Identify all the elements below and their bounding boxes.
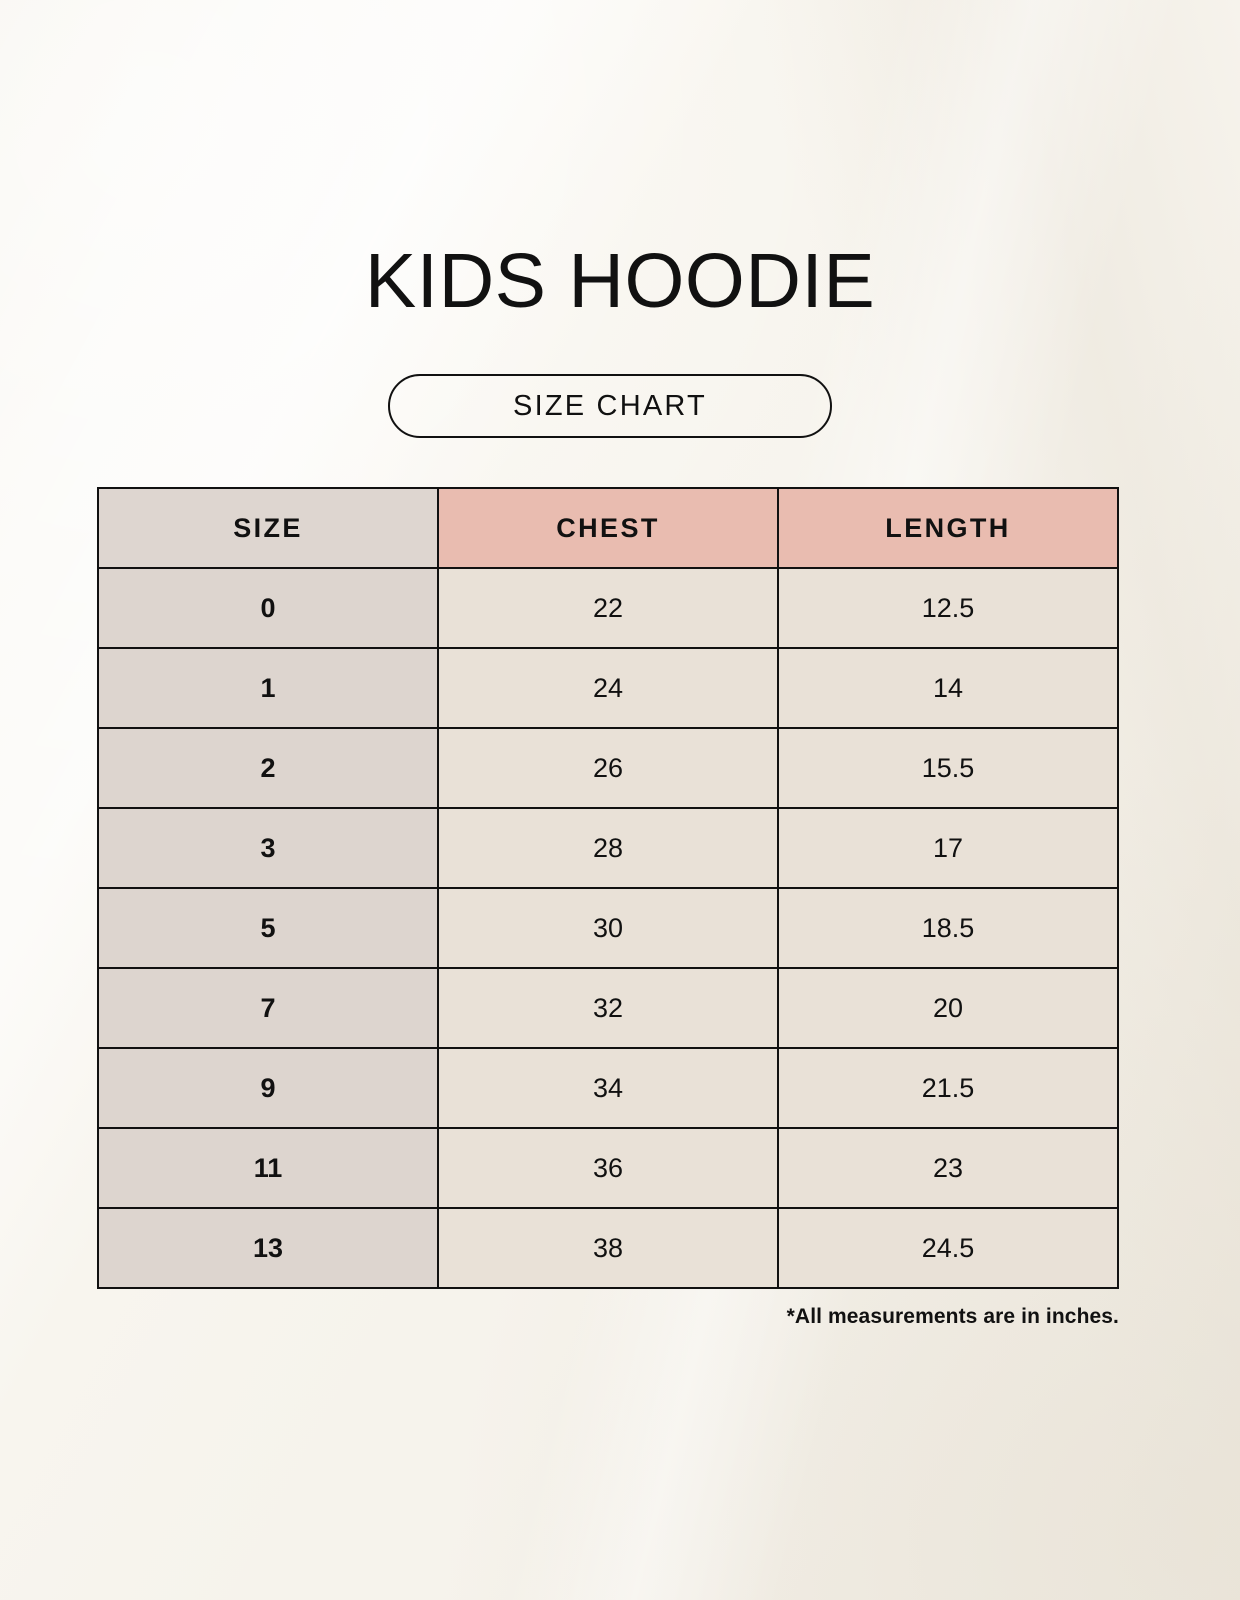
cell-length-value: 20 <box>933 993 963 1023</box>
cell-size: 1 <box>98 648 438 728</box>
page-title: KIDS HOODIE <box>0 243 1240 320</box>
cell-size-value: 0 <box>260 593 275 623</box>
cell-size: 2 <box>98 728 438 808</box>
cell-length-value: 15.5 <box>922 753 975 783</box>
column-header-chest-label: CHEST <box>556 513 660 543</box>
table-row: 5 30 18.5 <box>98 888 1118 968</box>
cell-length: 12.5 <box>778 568 1118 648</box>
cell-chest: 28 <box>438 808 778 888</box>
cell-chest-value: 32 <box>593 993 623 1023</box>
table-row: 3 28 17 <box>98 808 1118 888</box>
table-header-row: SIZE CHEST LENGTH <box>98 488 1118 568</box>
cell-length: 17 <box>778 808 1118 888</box>
column-header-size: SIZE <box>98 488 438 568</box>
cell-chest-value: 22 <box>593 593 623 623</box>
cell-chest-value: 24 <box>593 673 623 703</box>
cell-length: 23 <box>778 1128 1118 1208</box>
cell-size-value: 2 <box>260 753 275 783</box>
cell-chest: 38 <box>438 1208 778 1288</box>
cell-chest-value: 34 <box>593 1073 623 1103</box>
column-header-length-label: LENGTH <box>885 513 1010 543</box>
cell-size: 9 <box>98 1048 438 1128</box>
cell-size-value: 1 <box>260 673 275 703</box>
column-header-chest: CHEST <box>438 488 778 568</box>
size-table-container: SIZE CHEST LENGTH 0 22 <box>97 487 1119 1289</box>
table-row: 0 22 12.5 <box>98 568 1118 648</box>
cell-chest: 32 <box>438 968 778 1048</box>
cell-length: 21.5 <box>778 1048 1118 1128</box>
cell-chest: 26 <box>438 728 778 808</box>
measurement-unit-footnote: *All measurements are in inches. <box>97 1305 1119 1329</box>
cell-length: 14 <box>778 648 1118 728</box>
cell-size: 11 <box>98 1128 438 1208</box>
cell-size-value: 5 <box>260 913 275 943</box>
cell-size: 7 <box>98 968 438 1048</box>
cell-size: 3 <box>98 808 438 888</box>
cell-chest: 34 <box>438 1048 778 1128</box>
table-row: 7 32 20 <box>98 968 1118 1048</box>
cell-size: 13 <box>98 1208 438 1288</box>
column-header-length: LENGTH <box>778 488 1118 568</box>
table-row: 13 38 24.5 <box>98 1208 1118 1288</box>
cell-size-value: 13 <box>253 1233 283 1263</box>
cell-length-value: 24.5 <box>922 1233 975 1263</box>
cell-size: 0 <box>98 568 438 648</box>
cell-length-value: 23 <box>933 1153 963 1183</box>
table-row: 11 36 23 <box>98 1128 1118 1208</box>
cell-length-value: 18.5 <box>922 913 975 943</box>
cell-chest: 36 <box>438 1128 778 1208</box>
cell-size: 5 <box>98 888 438 968</box>
size-table-body: 0 22 12.5 1 24 <box>98 568 1118 1288</box>
cell-length-value: 14 <box>933 673 963 703</box>
size-table: SIZE CHEST LENGTH 0 22 <box>97 487 1119 1289</box>
table-row: 1 24 14 <box>98 648 1118 728</box>
size-chart-page: KIDS HOODIE SIZE CHART SIZE CHEST LENGTH <box>0 0 1240 1600</box>
cell-size-value: 3 <box>260 833 275 863</box>
cell-chest-value: 36 <box>593 1153 623 1183</box>
cell-length: 18.5 <box>778 888 1118 968</box>
size-chart-badge: SIZE CHART <box>388 374 832 438</box>
cell-size-value: 9 <box>260 1073 275 1103</box>
cell-chest-value: 26 <box>593 753 623 783</box>
table-row: 2 26 15.5 <box>98 728 1118 808</box>
table-row: 9 34 21.5 <box>98 1048 1118 1128</box>
cell-size-value: 11 <box>254 1153 283 1183</box>
cell-chest-value: 28 <box>593 833 623 863</box>
cell-length-value: 12.5 <box>922 593 975 623</box>
cell-chest-value: 30 <box>593 913 623 943</box>
cell-length-value: 17 <box>933 833 963 863</box>
size-chart-badge-label: SIZE CHART <box>513 390 707 423</box>
cell-chest: 22 <box>438 568 778 648</box>
cell-length: 15.5 <box>778 728 1118 808</box>
column-header-size-label: SIZE <box>233 513 303 543</box>
size-table-header: SIZE CHEST LENGTH <box>98 488 1118 568</box>
cell-size-value: 7 <box>260 993 275 1023</box>
cell-chest: 30 <box>438 888 778 968</box>
cell-length: 24.5 <box>778 1208 1118 1288</box>
cell-chest: 24 <box>438 648 778 728</box>
cell-length: 20 <box>778 968 1118 1048</box>
cell-length-value: 21.5 <box>922 1073 975 1103</box>
cell-chest-value: 38 <box>593 1233 623 1263</box>
